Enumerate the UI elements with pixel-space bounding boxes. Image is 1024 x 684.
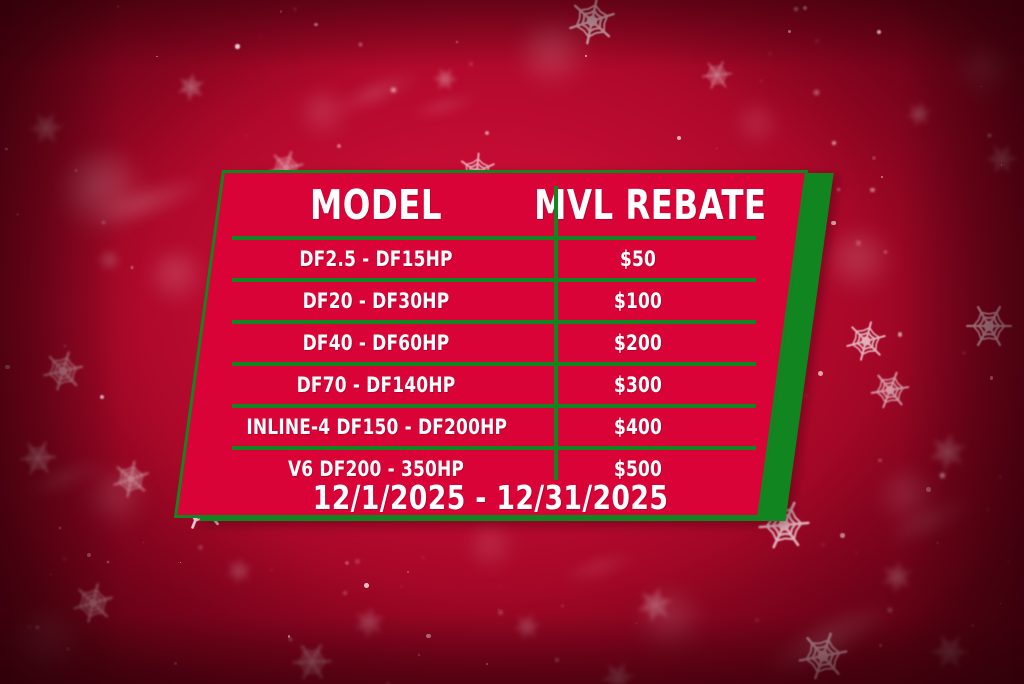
snow-speck: [407, 571, 409, 573]
snow-speck: [401, 586, 402, 587]
snow-streak: [560, 549, 641, 585]
cell-model: DF40 - DF60HP: [246, 324, 505, 362]
snowflake-icon: [28, 110, 64, 151]
snow-speck: [380, 675, 381, 676]
snow-speck: [555, 658, 559, 662]
snow-speck: [356, 560, 360, 564]
snow-speck: [716, 148, 717, 149]
snow-speck: [814, 90, 819, 95]
snow-speck: [500, 586, 501, 587]
snow-speck: [832, 141, 836, 145]
snow-speck: [562, 605, 564, 607]
snow-speck: [857, 241, 860, 244]
snowflake-icon: [928, 432, 968, 477]
snow-streak: [761, 597, 898, 682]
snow-speck: [75, 169, 77, 171]
snow-speck: [174, 662, 177, 665]
cell-rebate: $300: [532, 366, 744, 404]
snow-speck: [937, 542, 939, 544]
cell-rebate: $200: [532, 324, 744, 362]
promo-banner: MODEL MVL REBATE DF2.5 - DF15HP $50 DF20…: [0, 0, 1024, 684]
snow-speck: [314, 23, 318, 27]
snow-speck: [199, 546, 202, 549]
snow-speck: [289, 638, 292, 641]
snow-speck: [881, 176, 882, 177]
snow-speck: [926, 487, 931, 492]
table-row: DF70 - DF140HP $300: [232, 366, 756, 404]
snow-speck: [898, 332, 903, 337]
snow-speck: [422, 557, 423, 558]
table-row: DF2.5 - DF15HP $50: [232, 240, 756, 278]
snow-speck: [364, 583, 369, 588]
snow-speck: [818, 371, 823, 376]
snow-speck: [156, 56, 158, 58]
snow-streak: [330, 67, 425, 118]
snow-speck: [17, 214, 18, 215]
cell-model: DF2.5 - DF15HP: [246, 240, 505, 278]
snow-speck: [1001, 164, 1003, 166]
snow-speck: [636, 623, 637, 624]
snowflake-icon: [512, 612, 542, 647]
snow-speck: [940, 473, 945, 478]
snowflake-icon: [868, 368, 912, 417]
snow-speck: [794, 7, 798, 11]
snowflake-icon: [930, 632, 970, 677]
snow-speck: [870, 188, 874, 192]
snow-speck: [585, 55, 586, 56]
snow-speck: [760, 80, 763, 83]
snowflake-icon: [985, 142, 1019, 181]
snow-streak: [20, 455, 110, 501]
snow-speck: [280, 10, 282, 12]
rebate-table: MODEL MVL REBATE DF2.5 - DF15HP $50 DF20…: [232, 174, 756, 488]
snow-speck: [66, 647, 70, 651]
snow-speck: [831, 221, 835, 225]
snowflake-icon: [880, 560, 914, 599]
snow-speck: [1000, 603, 1001, 604]
snowflake-icon: [95, 246, 123, 279]
table-header-row: MODEL MVL REBATE: [232, 174, 756, 236]
snow-bokeh: [300, 90, 350, 140]
snow-speck: [879, 644, 882, 647]
snow-speck: [426, 634, 431, 639]
snow-speck: [498, 610, 503, 615]
snow-speck: [971, 624, 974, 627]
snow-speck: [235, 44, 239, 48]
snow-bokeh: [88, 470, 148, 530]
snow-speck: [963, 352, 965, 354]
snow-speck: [343, 591, 347, 595]
snow-speck: [359, 43, 362, 46]
snow-speck: [837, 188, 840, 191]
snow-speck: [5, 148, 7, 150]
snowflake-icon: [565, 0, 619, 53]
snowflake-icon: [843, 318, 889, 369]
rebate-table-panel: MODEL MVL REBATE DF2.5 - DF15HP $50 DF20…: [198, 170, 808, 520]
snowflake-icon: [432, 66, 458, 97]
snow-speck: [872, 156, 876, 160]
snowflake-icon: [290, 640, 334, 684]
snow-speck: [990, 376, 994, 380]
snow-speck: [788, 30, 791, 33]
snow-speck: [102, 221, 105, 224]
snow-speck: [391, 88, 396, 93]
snow-bokeh: [640, 590, 704, 654]
snow-speck: [64, 345, 66, 347]
header-rebate: MVL REBATE: [534, 174, 742, 236]
snow-speck: [981, 86, 982, 87]
snow-speck: [294, 8, 296, 10]
snowflake-icon: [700, 58, 734, 97]
snow-speck: [1008, 561, 1009, 562]
snow-speck: [1016, 120, 1017, 121]
snow-speck: [50, 574, 51, 575]
snowflake-icon: [352, 606, 386, 645]
snow-speck: [5, 365, 10, 370]
snowflake-icon: [70, 580, 116, 631]
cell-model: INLINE-4 DF150 - DF200HP: [246, 408, 505, 446]
snow-speck: [337, 144, 341, 148]
snow-speck: [131, 266, 133, 268]
snow-bokeh: [520, 20, 590, 90]
snow-speck: [288, 635, 290, 637]
snow-speck: [28, 626, 30, 628]
snow-speck: [988, 134, 991, 137]
snow-speck: [246, 135, 247, 136]
snow-speck: [180, 562, 181, 563]
promo-date-range: 12/1/2025 - 12/31/2025: [313, 478, 669, 517]
snow-streak: [410, 92, 481, 121]
snowflake-icon: [40, 348, 86, 399]
snow-speck: [418, 654, 420, 656]
table-row: DF20 - DF30HP $100: [232, 282, 756, 320]
snow-bokeh: [60, 150, 146, 236]
snow-speck: [856, 552, 858, 554]
snowflake-icon: [905, 100, 933, 133]
snow-speck: [260, 36, 261, 37]
promo-date-band: 12/1/2025 - 12/31/2025: [198, 476, 784, 518]
snow-streak: [90, 172, 211, 230]
snowflake-icon: [18, 438, 58, 483]
snow-speck: [888, 608, 892, 612]
snowflake-icon: [600, 660, 636, 684]
snow-speck: [486, 663, 488, 665]
snow-speck: [803, 6, 807, 10]
panel-content-wrapper: MODEL MVL REBATE DF2.5 - DF15HP $50 DF20…: [174, 170, 808, 518]
cell-model: DF20 - DF30HP: [246, 282, 505, 320]
snow-bokeh: [12, 612, 82, 682]
snow-speck: [36, 626, 39, 629]
snow-speck: [107, 561, 109, 563]
snow-speck: [878, 459, 881, 462]
snow-bokeh: [468, 524, 516, 572]
snow-speck: [117, 6, 119, 8]
table-row: DF40 - DF60HP $200: [232, 324, 756, 362]
snow-speck: [677, 136, 681, 140]
snow-speck: [498, 609, 499, 610]
snow-speck: [469, 62, 473, 66]
snow-speck: [822, 544, 823, 545]
snow-speck: [999, 476, 1001, 478]
snow-speck: [987, 508, 989, 510]
snow-bokeh: [960, 44, 1014, 98]
snow-speck: [345, 561, 349, 565]
snow-speck: [143, 542, 144, 543]
snow-bokeh: [828, 230, 894, 296]
snowflake-icon: [795, 628, 851, 684]
snow-speck: [816, 40, 817, 41]
snow-bokeh: [736, 104, 780, 148]
snow-speck: [877, 30, 881, 34]
snow-speck: [485, 131, 489, 135]
table-row: INLINE-4 DF150 - DF200HP $400: [232, 408, 756, 446]
column-divider: [554, 186, 558, 480]
snow-speck: [769, 53, 771, 55]
cell-rebate: $400: [532, 408, 744, 446]
snowflake-icon: [224, 556, 254, 591]
snowflake-icon: [176, 72, 206, 107]
cell-model: DF70 - DF140HP: [246, 366, 505, 404]
header-model: MODEL: [249, 174, 502, 236]
snow-bokeh: [880, 470, 938, 528]
snow-speck: [100, 395, 105, 400]
cell-rebate: $100: [532, 282, 744, 320]
snow-speck: [64, 558, 66, 560]
cell-rebate: $50: [532, 240, 744, 278]
snow-speck: [59, 527, 61, 529]
snow-speck: [63, 123, 64, 124]
snowflake-icon: [110, 458, 152, 505]
snow-speck: [456, 41, 458, 43]
snow-speck: [271, 570, 272, 571]
snow-speck: [884, 251, 887, 254]
snowflake-icon: [963, 300, 1015, 357]
snow-speck: [756, 619, 758, 621]
snow-streak: [881, 492, 980, 549]
snow-speck: [87, 553, 91, 557]
snowflake-icon: [636, 586, 674, 629]
snow-speck: [840, 533, 845, 538]
